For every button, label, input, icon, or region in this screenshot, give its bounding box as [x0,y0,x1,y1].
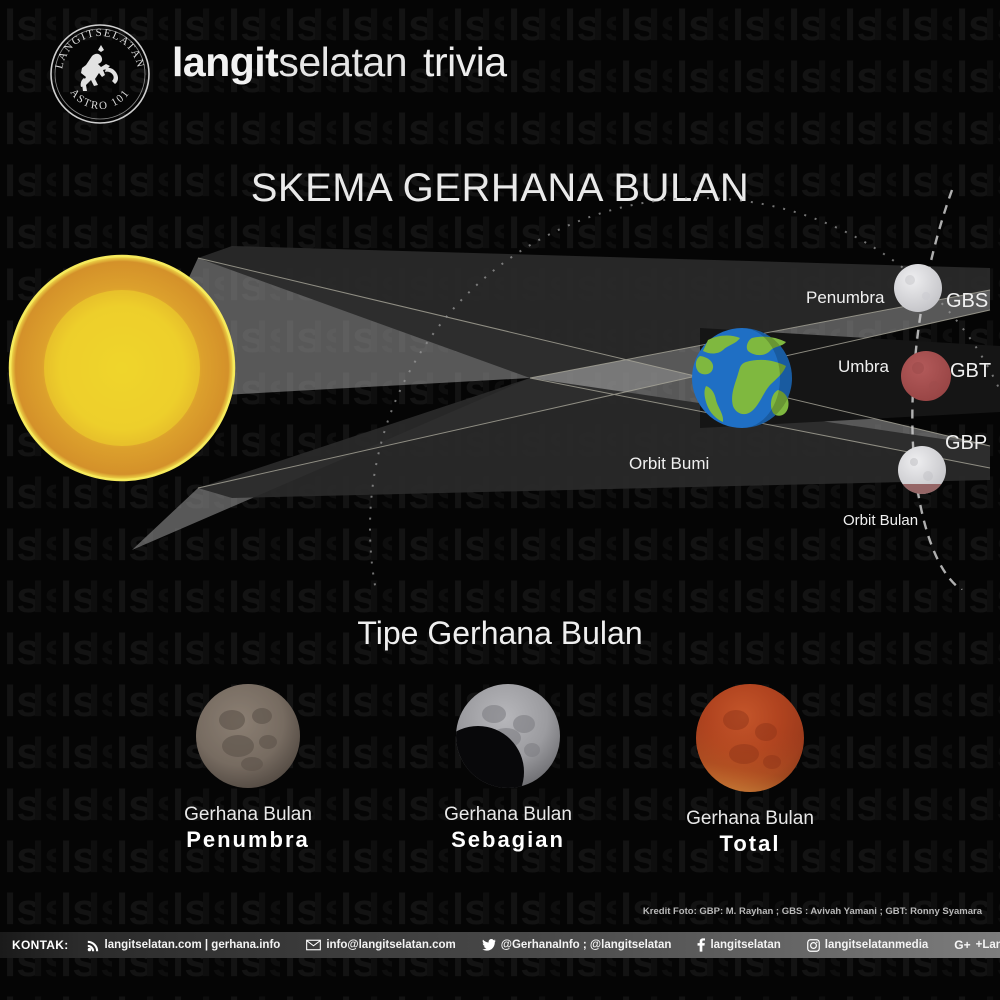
footer-item-text: langitselatan [710,939,780,951]
label-orbit-bumi: Orbit Bumi [629,454,709,474]
eclipse-types-row: Gerhana Bulan Penumbra [0,680,1000,870]
footer-item-text: info@langitselatan.com [326,939,455,951]
rider-emblem-icon [81,45,118,91]
footer-item-twitter[interactable]: @GerhanaInfo ; @langitselatan [482,939,698,951]
footer-item-googleplus[interactable]: G+ +LangitselatanMedia [954,938,1000,952]
penumbral-eclipse-moon-photo [192,680,304,792]
header: LANGITSELATAN ASTRO 101 langitselatantri… [0,0,1000,140]
total-eclipse-moon-photo [692,680,808,796]
type-caption-top: Gerhana Bulan [118,804,378,826]
instagram-icon [807,939,820,952]
type-caption-top: Gerhana Bulan [620,808,880,830]
label-umbra: Umbra [838,357,889,377]
label-orbit-bulan: Orbit Bulan [843,512,918,529]
type-caption-top: Gerhana Bulan [378,804,638,826]
footer-item-text: langitselatan.com | gerhana.info [105,939,281,951]
label-gbp: GBP [945,432,987,455]
wordmark-suffix: trivia [423,39,507,85]
moon-gbt [901,351,951,401]
footer-contact-bar: KONTAK: langitselatan.com | gerhana.info… [0,932,1000,958]
moon-gbp [894,264,942,312]
label-gbs: GBS [946,290,988,313]
sun [10,256,234,480]
kontak-label: KONTAK: [0,938,87,952]
footer-item-text: langitselatanmedia [825,939,929,951]
footer-item-email[interactable]: info@langitselatan.com [306,939,481,951]
footer-item-text: @GerhanaInfo ; @langitselatan [501,939,672,951]
rss-icon [87,939,100,952]
langitselatan-badge-icon[interactable]: LANGITSELATAN ASTRO 101 [48,22,152,126]
wordmark-light: selatan [278,39,407,85]
infographic-page: ls ls LANGITSELATAN ASTRO 101 [0,0,1000,1000]
photo-credit: Kredit Foto: GBP: M. Rayhan ; GBS : Aviv… [643,906,982,917]
earth [692,328,792,428]
wordmark-bold: langit [172,39,278,85]
type-caption-bottom: Penumbra [118,827,378,853]
label-penumbra: Penumbra [806,288,884,308]
envelope-icon [306,939,321,951]
twitter-bird-icon [482,939,496,951]
eclipse-type-card: Gerhana Bulan Sebagian [378,680,638,853]
facebook-f-icon [697,938,705,952]
svg-text:ASTRO 101: ASTRO 101 [67,87,132,113]
section-title-types: Tipe Gerhana Bulan [0,615,1000,652]
google-plus-icon: G+ [954,938,970,952]
label-gbt: GBT [950,360,991,383]
badge-inner-text: ASTRO 101 [67,87,132,113]
footer-item-website[interactable]: langitselatan.com | gerhana.info [87,939,307,952]
type-caption-bottom: Sebagian [378,827,638,853]
type-caption-bottom: Total [620,831,880,857]
footer-item-text: +LangitselatanMedia [976,939,1000,951]
brand-wordmark[interactable]: langitselatantrivia [172,38,507,86]
moon-gbs [896,446,948,504]
partial-eclipse-moon-photo [452,680,564,792]
eclipse-type-card: Gerhana Bulan Total [620,680,880,857]
footer-item-instagram[interactable]: langitselatanmedia [807,939,955,952]
footer-item-facebook[interactable]: langitselatan [697,938,806,952]
eclipse-type-card: Gerhana Bulan Penumbra [118,680,378,853]
